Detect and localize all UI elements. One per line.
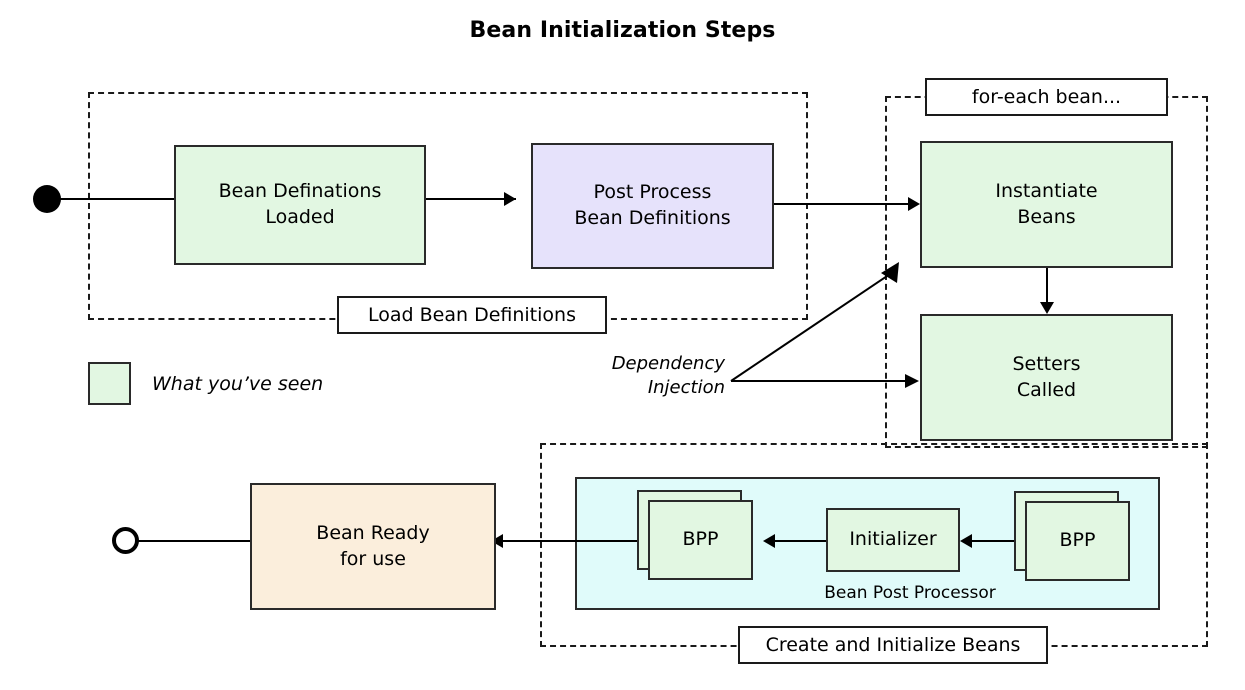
node-initializer[interactable]: Initializer — [826, 508, 960, 572]
connector-definations-to-postprocess — [426, 198, 516, 200]
arrowhead-to-postprocess — [504, 192, 516, 206]
arrowhead-to-instantiate — [908, 197, 920, 211]
arrowhead-to-initializer — [960, 534, 972, 548]
dependency-injection-label: Dependency Injection — [560, 352, 725, 401]
group-label-load-bean-definitions: Load Bean Definitions — [337, 296, 607, 334]
page-title: Bean Initialization Steps — [0, 18, 1245, 43]
node-setters-called[interactable]: Setters Called — [920, 314, 1173, 441]
connector-start-to-bean-definations — [60, 198, 174, 200]
node-bean-ready-for-use[interactable]: Bean Ready for use — [250, 483, 496, 610]
start-node — [33, 185, 61, 213]
node-bpp-right[interactable]: BPP — [1025, 501, 1130, 581]
connector-bpp-right-to-initializer — [965, 540, 1020, 542]
arrowhead-to-bpp-left — [763, 534, 775, 548]
group-label-create-and-initialize-beans: Create and Initialize Beans — [738, 626, 1048, 664]
diagram-canvas: Bean Initialization Steps Dependency Inj… — [0, 0, 1245, 690]
connector-bean-ready-to-end — [138, 540, 251, 542]
node-bean-definations-loaded[interactable]: Bean Definations Loaded — [174, 145, 426, 265]
legend-swatch-seen — [88, 362, 131, 405]
end-node — [112, 527, 139, 554]
bean-post-processor-label: Bean Post Processor — [750, 583, 1070, 603]
legend-label-seen: What you’ve seen — [152, 373, 323, 395]
connector-initializer-to-bpp-left — [768, 540, 826, 542]
connector-postprocess-to-instantiate — [774, 203, 916, 205]
node-instantiate-beans[interactable]: Instantiate Beans — [920, 141, 1173, 268]
arrowhead-to-setters — [1040, 302, 1054, 314]
node-bpp-left[interactable]: BPP — [648, 500, 753, 580]
node-post-process-bean-definitions[interactable]: Post Process Bean Definitions — [531, 143, 774, 269]
group-label-for-each-bean: for-each bean... — [925, 78, 1168, 116]
